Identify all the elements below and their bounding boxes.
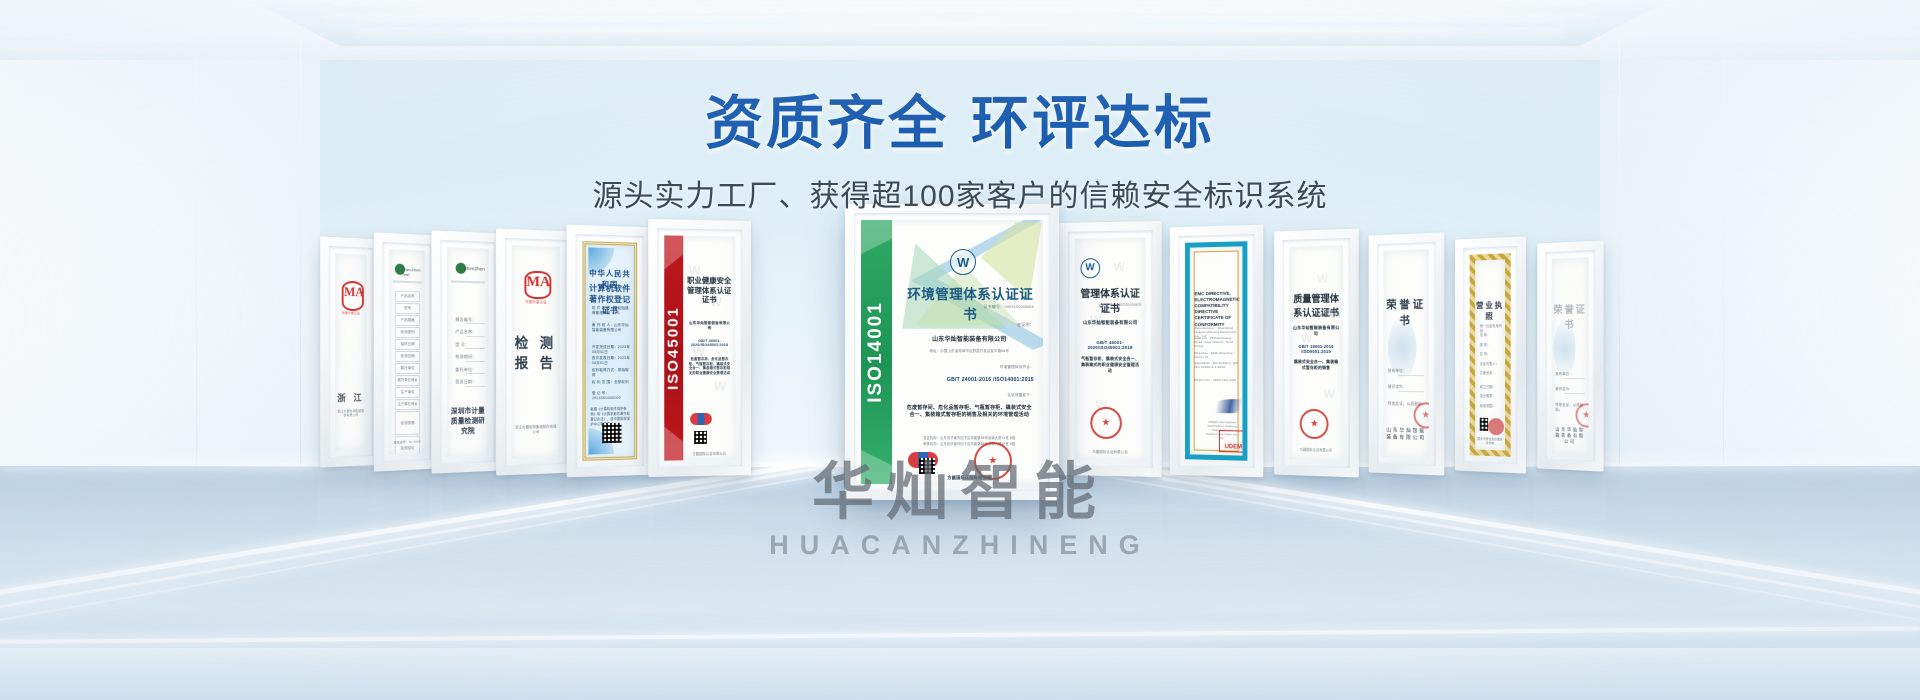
cert-field: 软 件 名 称：智能指路牌管理系统 V1.0	[592, 306, 630, 316]
official-red-stamp	[1300, 408, 1329, 439]
certificate-company-label: 兹证明：	[963, 322, 1034, 328]
certificate-frame-cma-report-2[interactable]: MA 中国计量认证 检 测 报 告 浙江方圆检测集团股份有限公司	[496, 228, 575, 475]
qr-code	[919, 458, 935, 474]
report-field: 生产单位地址	[395, 399, 420, 411]
certificate-scope: 气瓶暂存柜、撬装式安全合一、集装箱式的职业健康安全管理活动	[1080, 356, 1140, 374]
certificate-frame-test-report-sh-1[interactable]: ShenZhen Test 产品名称 型号 产品规格 检测类别 抽样日期 检测日…	[374, 232, 439, 471]
certificate-footer: 国家市场监督管理总局监制	[1477, 436, 1503, 445]
certificate-scope: 撬装式安全合一、集装箱式暂存柜的销售	[1294, 359, 1339, 371]
certificate-frame-iso45001-ohs[interactable]: ISO45001 W W W W 职业健康安全管理体系认证证书 山东华灿智能装备…	[648, 219, 751, 477]
certificate-frame-ce-emc-directive[interactable]: EMC DIRECTIVE, ELECTROMAGNETIC COMPATIBI…	[1170, 225, 1264, 478]
official-red-stamp	[1090, 407, 1122, 439]
certificate-paper: EMC DIRECTIVE, ELECTROMAGNETIC COMPATIBI…	[1185, 241, 1247, 461]
cert-field: 经营范围：	[1480, 402, 1496, 407]
report-field: 检测依据	[395, 410, 420, 435]
certificate-footer: 方圆国际认证有限公司	[1292, 447, 1339, 453]
report-field: 委托单位：	[455, 367, 476, 373]
certificate-title: 荣誉证书	[1552, 301, 1589, 332]
certificate-footer: 浙江方圆检测集团股份有限公司	[515, 424, 557, 435]
certificate-frame-business-license[interactable]: 营业执照 统一社会信用代码： 名 称： 类 型： 住 所： 法定代表人： 注册资…	[1455, 236, 1526, 473]
certificate-footer: 浙江方圆检测集团股份有限公司	[337, 408, 365, 417]
cert-field: 住 所：	[1480, 351, 1490, 356]
certificate-paper: W W W W W 管理体系认证证书 证书编号：00EOS000M05 山东华灿…	[1075, 237, 1146, 460]
cert-field: 类 型：	[1480, 342, 1490, 347]
certificate-title: 营业执照	[1475, 300, 1505, 323]
cert-field: 登 记 号：2023SR0000000	[592, 391, 630, 400]
field-rule	[466, 361, 484, 362]
certificate-title: 管理体系认证证书	[1077, 284, 1142, 315]
certificate-paper: W W W 质量管理体系认证证书 证书编号：00EOS000M05 山东华灿智能…	[1289, 245, 1343, 461]
cert-field: Directive : EMC Directive / Annex III	[1195, 351, 1239, 359]
certificate-footer: 方圆国际认证有限公司	[686, 451, 733, 457]
certificate-body-text: 浙 江	[335, 391, 366, 405]
qr-code	[602, 423, 621, 443]
frame-mat: 中华人民共和国 计算机软件著作权登记证书 软 件 名 称：智能指路牌管理系统 V…	[576, 234, 644, 468]
cert-field: Report No : 0000-CDA-P00	[1195, 378, 1239, 382]
certificate-paper: ShenZhen Test 产品名称 型号 产品规格 检测类别 抽样日期 检测日…	[389, 249, 424, 455]
field-rule	[1399, 375, 1425, 376]
certificate-frame-test-report-sz-2[interactable]: ShenZhen 报告编号： 产品名称： 型 号： 检测期间： 委托单位： 签发…	[432, 230, 504, 473]
cert-field: 著 作 权 人：山东华灿智能装备有限公司	[592, 323, 630, 333]
certificate-title: 职业健康安全管理体系认证证书	[686, 276, 733, 305]
ma-badge: MA	[342, 281, 363, 311]
certificate-lab-name: ShenZhen	[464, 266, 485, 272]
report-field: 生产单位	[395, 387, 420, 398]
frame-mat: EMC DIRECTIVE, ELECTROMAGNETIC COMPATIBI…	[1178, 234, 1254, 468]
page-title: 资质齐全环评达标	[0, 92, 1920, 157]
certificate-company: 山东华灿智能装备有限公司	[905, 334, 1034, 343]
frame-mat: ShenZhen Test 产品名称 型号 产品规格 检测类别 抽样日期 检测日…	[382, 242, 431, 462]
certificate-frame-iso9001-quality[interactable]: W W W 质量管理体系认证证书 证书编号：00EOS000M05 山东华灿智能…	[1274, 228, 1359, 477]
report-field: 报告编号：	[455, 316, 476, 322]
certificate-footer: 方圆国际认证有限公司	[905, 475, 1034, 481]
band-cut-bottom	[861, 450, 892, 484]
field-rule	[466, 385, 484, 386]
header-rule	[393, 280, 422, 283]
certificate-paper: ShenZhen 报告编号： 产品名称： 型 号： 检测期间： 委托单位： 签发…	[447, 247, 489, 457]
report-field: 签发日期：	[455, 379, 476, 385]
cert-field: 开发完成日期：2023年05月01日	[592, 345, 630, 355]
certificate-standard-label: 环境管理体系符合：	[952, 365, 1034, 370]
report-field: 委托单位	[395, 363, 420, 374]
cert-field: Address : Zhihuazhuang Road, Juye Distri…	[1195, 336, 1239, 348]
certificate-number: 证书编号：00EOS000M05	[1305, 308, 1340, 317]
frame-mat: W W W 质量管理体系认证证书 证书编号：00EOS000M05 山东华灿智能…	[1283, 238, 1350, 468]
frame-mat: 荣誉证书 兹有单位： 被评定为： 特发此证，以资鼓励。 山东华灿智能装备有限公司	[1377, 242, 1436, 466]
certificate-paper: ISO45001 W W W W 职业健康安全管理体系认证证书 山东华灿智能装备…	[664, 235, 735, 460]
cert-field: Standards : EN 61326-1, EN IEC 61000-6-2…	[1195, 361, 1239, 369]
cert-field: 兹有单位：	[1388, 368, 1407, 373]
frame-mat: 营业执照 统一社会信用代码： 名 称： 类 型： 住 所： 法定代表人： 注册资…	[1463, 246, 1517, 464]
certificate-frame-iso45001-ohs-2[interactable]: W W W W W 管理体系认证证书 证书编号：00EOS000M05 山东华灿…	[1059, 221, 1162, 477]
certificate-footer: 山东华灿智能装备有限公司	[1553, 426, 1587, 445]
udem-logo-label: UDEM	[1225, 444, 1242, 450]
field-rule	[466, 323, 484, 324]
cert-field: 被评定为：	[1388, 385, 1407, 390]
certificate-frame-iso14001-env[interactable]: ISO14001 W 环境管理体系认证证书 证书编号：00EOS000M05 兹…	[845, 204, 1059, 500]
report-field: 检测日期	[395, 351, 420, 362]
certificate-footer: 方圆国际认证有限公司	[1079, 448, 1142, 454]
paper-watermark: W	[1114, 260, 1125, 274]
paper-watermark: W	[714, 379, 726, 394]
signature-graphic	[1213, 399, 1248, 414]
report-field-table: 产品名称 型号 产品规格 检测类别 抽样日期 检测日期 委托单位 委托单位地址 …	[395, 290, 420, 427]
report-field: 产品规格	[395, 315, 420, 326]
field-rule	[466, 373, 484, 374]
report-field: 检测期间：	[455, 354, 476, 360]
certificate-standard: GB/T 24001-2016 /ISO14001:2015	[934, 377, 1034, 383]
qr-code	[694, 431, 707, 444]
cert-field: 权 利 范 围：全部权利	[592, 379, 630, 384]
accreditation-logo-icon	[690, 413, 712, 425]
certificate-title: 荣誉证书	[1383, 295, 1428, 328]
report-field: 型号	[395, 303, 420, 314]
cert-field: 法定代表人：	[1480, 361, 1499, 366]
frame-mat: W W W W W 管理体系认证证书 证书编号：00EOS000M05 山东华灿…	[1068, 230, 1153, 468]
report-field: 抽样日期	[395, 339, 420, 350]
paper-watermark: W	[1324, 387, 1335, 401]
frame-mat: MA 中国计量认证 浙 江 浙江方圆检测集团股份有限公司	[329, 246, 373, 458]
page-title-part1: 资质齐全	[705, 91, 949, 156]
national-emblem-stamp	[1488, 418, 1504, 435]
page-title-part2: 环评达标	[971, 91, 1215, 156]
certificate-paper: 中华人民共和国 计算机软件著作权登记证书 软 件 名 称：智能指路牌管理系统 V…	[583, 241, 638, 461]
certificate-paper: 营业执照 统一社会信用代码： 名 称： 类 型： 住 所： 法定代表人： 注册资…	[1470, 253, 1511, 457]
certificate-frame-honor-cert-1[interactable]: 荣誉证书 兹有单位： 被评定为： 特发此证，以资鼓励。 山东华灿智能装备有限公司	[1369, 232, 1445, 475]
frame-mat: ShenZhen 报告编号： 产品名称： 型 号： 检测期间： 委托单位： 签发…	[440, 240, 495, 464]
certificate-standard: GB/T 45001-2020/ISO45001:2018	[687, 339, 732, 347]
band-cut-top	[664, 235, 683, 269]
header-rule	[451, 281, 485, 284]
field-rule	[466, 348, 484, 349]
certificate-paper: 荣誉证书 兹有单位： 被评定为： 特发此证，以资鼓励。 山东华灿智能装备有限公司	[1552, 257, 1589, 455]
certificate-address: 地址：中国山东省菏泽市巨野县开发区智华路88号	[905, 348, 1034, 353]
official-red-stamp	[1413, 402, 1429, 429]
official-red-stamp	[1575, 403, 1588, 428]
udem-logo: UDEM	[1219, 430, 1248, 453]
certificate-number: 证书编号：00EOS000M05	[963, 304, 1034, 310]
band-cut-bottom	[664, 426, 683, 460]
certificate-title: EMC DIRECTIVE, ELECTROMAGNETIC COMPATIBI…	[1195, 290, 1239, 328]
cert-field: 兹有单位：	[1555, 372, 1572, 377]
certificate-standard: GB/T 19001-2016 /ISO9001:2015	[1292, 344, 1339, 354]
certificate-number: 证书编号：00EOS000M05	[1096, 302, 1142, 307]
certificate-company: 山东华灿智能装备有限公司	[687, 321, 732, 331]
certificate-lab-name: ShenZhen Test	[402, 267, 425, 278]
certificate-frame-honor-cert-2[interactable]: 荣誉证书 兹有单位： 被评定为： 特发此证，以资鼓励。 山东华灿智能装备有限公司	[1537, 240, 1603, 471]
certificate-paper: 荣誉证书 兹有单位： 被评定为： 特发此证，以资鼓励。 山东华灿智能装备有限公司	[1383, 249, 1428, 459]
frame-mat: ISO45001 W W W W 职业健康安全管理体系认证证书 山东华灿智能装备…	[657, 228, 742, 468]
frame-mat: ISO14001 W 环境管理体系认证证书 证书编号：00EOS000M05 兹…	[854, 213, 1050, 491]
cert-field: 营业期限：	[1480, 393, 1496, 398]
certificate-scope: 危废暂存间、危化品暂存柜、气瓶暂存柜、撬装式安全合一、集装箱式暂存柜的销售及相关…	[905, 405, 1034, 420]
certificate-company: 山东华灿智能装备有限公司	[1292, 325, 1339, 337]
cert-field: 被评定为：	[1555, 387, 1572, 392]
field-rule	[1564, 377, 1585, 378]
certificate-paper: ISO14001 W 环境管理体系认证证书 证书编号：00EOS000M05 兹…	[861, 220, 1043, 484]
report-field: 检测结论	[395, 435, 420, 454]
certificate-company: 山东华灿智能装备有限公司	[1079, 320, 1142, 326]
certificate-standard: GB/T 45001-2020/ISO45001:2018	[1079, 340, 1142, 350]
cert-field: 注册资本：	[1480, 370, 1496, 375]
iso-standard-label: ISO45001	[665, 306, 682, 390]
report-field: 委托单位地址	[395, 375, 420, 386]
cert-field: 统一社会信用代码：	[1480, 323, 1505, 333]
certificate-issue-info: 发证机构：山东省济南市历下区华能路88号泉城大厦14층 B座 审核机构：山东省济…	[905, 436, 1034, 446]
cnas-seal-icon: W	[1080, 258, 1100, 278]
report-field: 产品名称	[395, 290, 420, 302]
report-field: 型 号：	[455, 342, 469, 348]
paper-watermark: W	[1317, 271, 1328, 285]
report-field: 产品名称：	[455, 329, 476, 335]
certificate-paper: MA 中国计量认证 检 测 报 告 浙江方圆检测集团股份有限公司	[512, 245, 560, 459]
cert-field: 首次发表日期：2023年06月01日	[592, 356, 630, 366]
certificate-footer: 深圳市计量质量检测研究院	[450, 406, 485, 437]
certificate-title: 检 测 报 告	[512, 333, 560, 373]
certificate-frame-software-copyright[interactable]: 中华人民共和国 计算机软件著作权登记证书 软 件 名 称：智能指路牌管理系统 V…	[567, 225, 653, 478]
banner-stage: 资质齐全环评达标 源头实力工厂、获得超100家客户的信赖安全标识系统 MA 中国…	[0, 0, 1920, 700]
field-rule	[466, 336, 484, 337]
field-rule	[1564, 393, 1585, 394]
certificate-footer: 山东华灿智能装备有限公司	[1385, 426, 1427, 441]
cert-field: 权利取得方式：原始取得	[592, 368, 630, 378]
cert-field: 成立日期：	[1480, 383, 1496, 388]
certificate-scope: 危废暂存间、危化品暂存柜、气瓶暂存柜、撬装式安全合一、集装箱式暂存柜相关的职业健…	[687, 357, 732, 376]
banner-headings: 资质齐全环评达标 源头实力工厂、获得超100家客户的信赖安全标识系统	[0, 92, 1920, 215]
iso-color-band: ISO45001	[664, 235, 683, 460]
ma-badge-sub: 中国计量认证	[512, 299, 560, 305]
certificate-scope-label: 认证范围如下：	[952, 393, 1034, 398]
field-rule	[1399, 391, 1425, 392]
certificate-frame-cma-report-1[interactable]: MA 中国计量认证 浙 江 浙江方圆检测集团股份有限公司	[320, 236, 381, 467]
certificate-paper: MA 中国计量认证 浙 江 浙江方圆检测集团股份有限公司	[335, 253, 366, 450]
cert-field: 名 称：	[1480, 332, 1490, 337]
page-subtitle: 源头实力工厂、获得超100家客户的信赖安全标识系统	[0, 171, 1920, 215]
ma-badge: MA	[524, 271, 551, 299]
ma-badge-sub: 中国计量认证	[335, 311, 366, 316]
report-field: 检测类别	[395, 327, 420, 338]
frame-mat: MA 中国计量认证 检 测 报 告 浙江方圆检测集团股份有限公司	[505, 238, 567, 466]
frame-mat: 荣誉证书 兹有单位： 被评定为： 特发此证，以资鼓励。 山东华灿智能装备有限公司	[1545, 250, 1595, 462]
